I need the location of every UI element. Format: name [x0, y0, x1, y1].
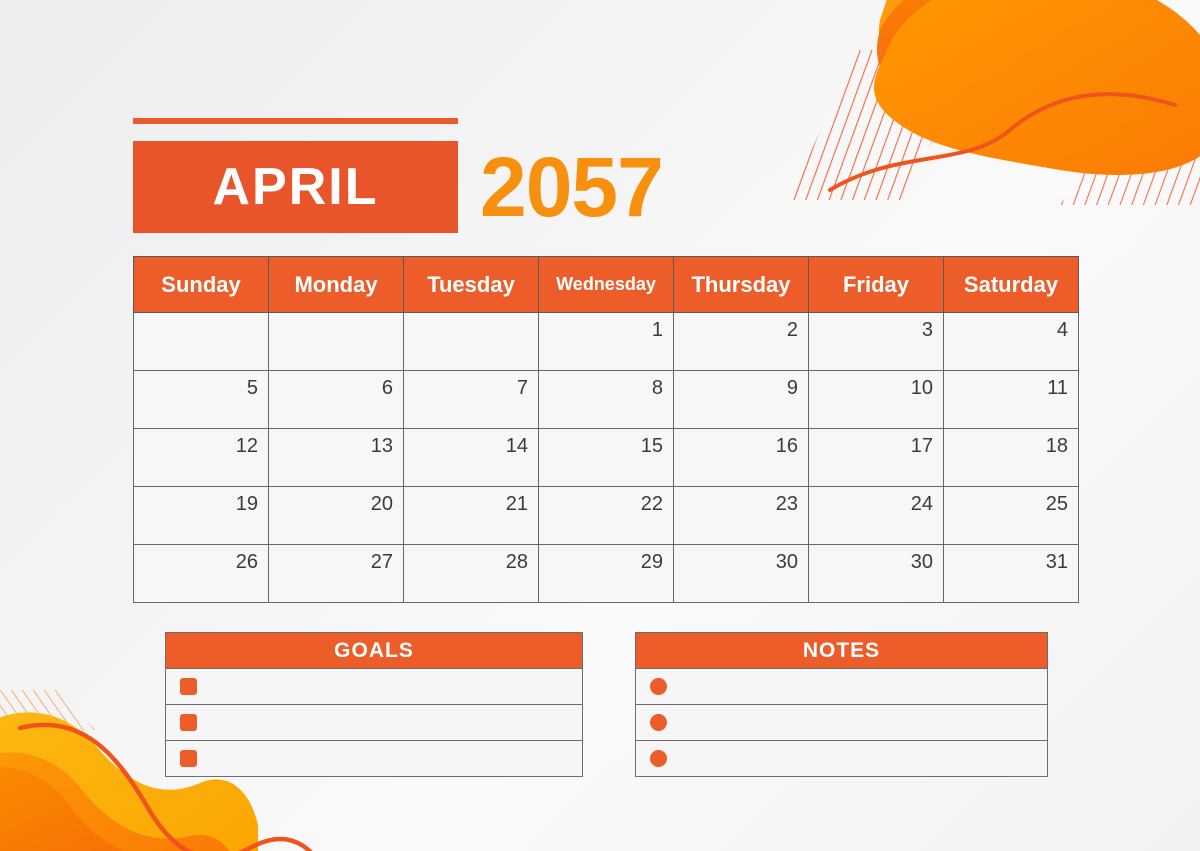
- day-cell[interactable]: 8: [539, 371, 674, 429]
- day-cell[interactable]: 9: [674, 371, 809, 429]
- day-cell[interactable]: 22: [539, 487, 674, 545]
- title-row: APRIL 2057: [133, 141, 753, 233]
- day-cell[interactable]: 31: [944, 545, 1079, 603]
- weekday-header-row: Sunday Monday Tuesday Wednesday Thursday…: [134, 257, 1079, 313]
- day-cell[interactable]: 14: [404, 429, 539, 487]
- day-cell[interactable]: 15: [539, 429, 674, 487]
- circle-bullet-icon: [650, 678, 667, 695]
- day-cell[interactable]: 11: [944, 371, 1079, 429]
- month-banner: APRIL: [133, 141, 458, 233]
- calendar-week-row: 12 13 14 15 16 17 18: [134, 429, 1079, 487]
- day-cell[interactable]: 5: [134, 371, 269, 429]
- title-block: APRIL 2057: [133, 118, 753, 233]
- square-bullet-icon: [180, 714, 197, 731]
- weekday-header-monday: Monday: [269, 257, 404, 313]
- calendar-week-row: 5 6 7 8 9 10 11: [134, 371, 1079, 429]
- day-cell[interactable]: 20: [269, 487, 404, 545]
- square-bullet-icon: [180, 750, 197, 767]
- calendar-grid: Sunday Monday Tuesday Wednesday Thursday…: [133, 256, 1079, 603]
- notes-header: NOTES: [636, 633, 1047, 668]
- month-label: APRIL: [213, 161, 379, 213]
- day-cell[interactable]: 6: [269, 371, 404, 429]
- calendar-week-row: 26 27 28 29 30 30 31: [134, 545, 1079, 603]
- day-cell[interactable]: 2: [674, 313, 809, 371]
- day-cell[interactable]: 7: [404, 371, 539, 429]
- day-cell[interactable]: 16: [674, 429, 809, 487]
- goals-row[interactable]: [166, 740, 582, 776]
- goals-row[interactable]: [166, 704, 582, 740]
- goals-row[interactable]: [166, 668, 582, 704]
- day-cell[interactable]: [404, 313, 539, 371]
- weekday-header-wednesday: Wednesday: [539, 257, 674, 313]
- weekday-header-friday: Friday: [809, 257, 944, 313]
- notes-title: NOTES: [803, 639, 880, 663]
- day-cell[interactable]: 26: [134, 545, 269, 603]
- day-cell[interactable]: 29: [539, 545, 674, 603]
- goals-panel: GOALS: [165, 632, 583, 777]
- day-cell[interactable]: 13: [269, 429, 404, 487]
- day-cell[interactable]: 23: [674, 487, 809, 545]
- day-cell[interactable]: 10: [809, 371, 944, 429]
- day-cell[interactable]: 24: [809, 487, 944, 545]
- day-cell[interactable]: 19: [134, 487, 269, 545]
- day-cell[interactable]: 28: [404, 545, 539, 603]
- day-cell[interactable]: 30: [674, 545, 809, 603]
- day-cell[interactable]: 17: [809, 429, 944, 487]
- weekday-header-saturday: Saturday: [944, 257, 1079, 313]
- calendar-week-row: 1 2 3 4: [134, 313, 1079, 371]
- calendar-week-row: 19 20 21 22 23 24 25: [134, 487, 1079, 545]
- day-cell[interactable]: 3: [809, 313, 944, 371]
- notes-panel: NOTES: [635, 632, 1048, 777]
- day-cell[interactable]: 12: [134, 429, 269, 487]
- day-cell[interactable]: 30: [809, 545, 944, 603]
- goals-header: GOALS: [166, 633, 582, 668]
- day-cell[interactable]: 25: [944, 487, 1079, 545]
- notes-row[interactable]: [636, 704, 1047, 740]
- day-cell[interactable]: 1: [539, 313, 674, 371]
- day-cell[interactable]: [269, 313, 404, 371]
- day-cell[interactable]: 27: [269, 545, 404, 603]
- day-cell[interactable]: [134, 313, 269, 371]
- notes-row[interactable]: [636, 740, 1047, 776]
- day-cell[interactable]: 21: [404, 487, 539, 545]
- weekday-header-thursday: Thursday: [674, 257, 809, 313]
- weekday-header-tuesday: Tuesday: [404, 257, 539, 313]
- year-label: 2057: [480, 145, 663, 229]
- day-cell[interactable]: 18: [944, 429, 1079, 487]
- accent-rule: [133, 118, 458, 124]
- weekday-header-sunday: Sunday: [134, 257, 269, 313]
- circle-bullet-icon: [650, 750, 667, 767]
- goals-title: GOALS: [334, 639, 414, 663]
- square-bullet-icon: [180, 678, 197, 695]
- calendar-page: APRIL 2057 Sunday Monday Tuesday Wednesd…: [0, 0, 1200, 851]
- notes-row[interactable]: [636, 668, 1047, 704]
- day-cell[interactable]: 4: [944, 313, 1079, 371]
- circle-bullet-icon: [650, 714, 667, 731]
